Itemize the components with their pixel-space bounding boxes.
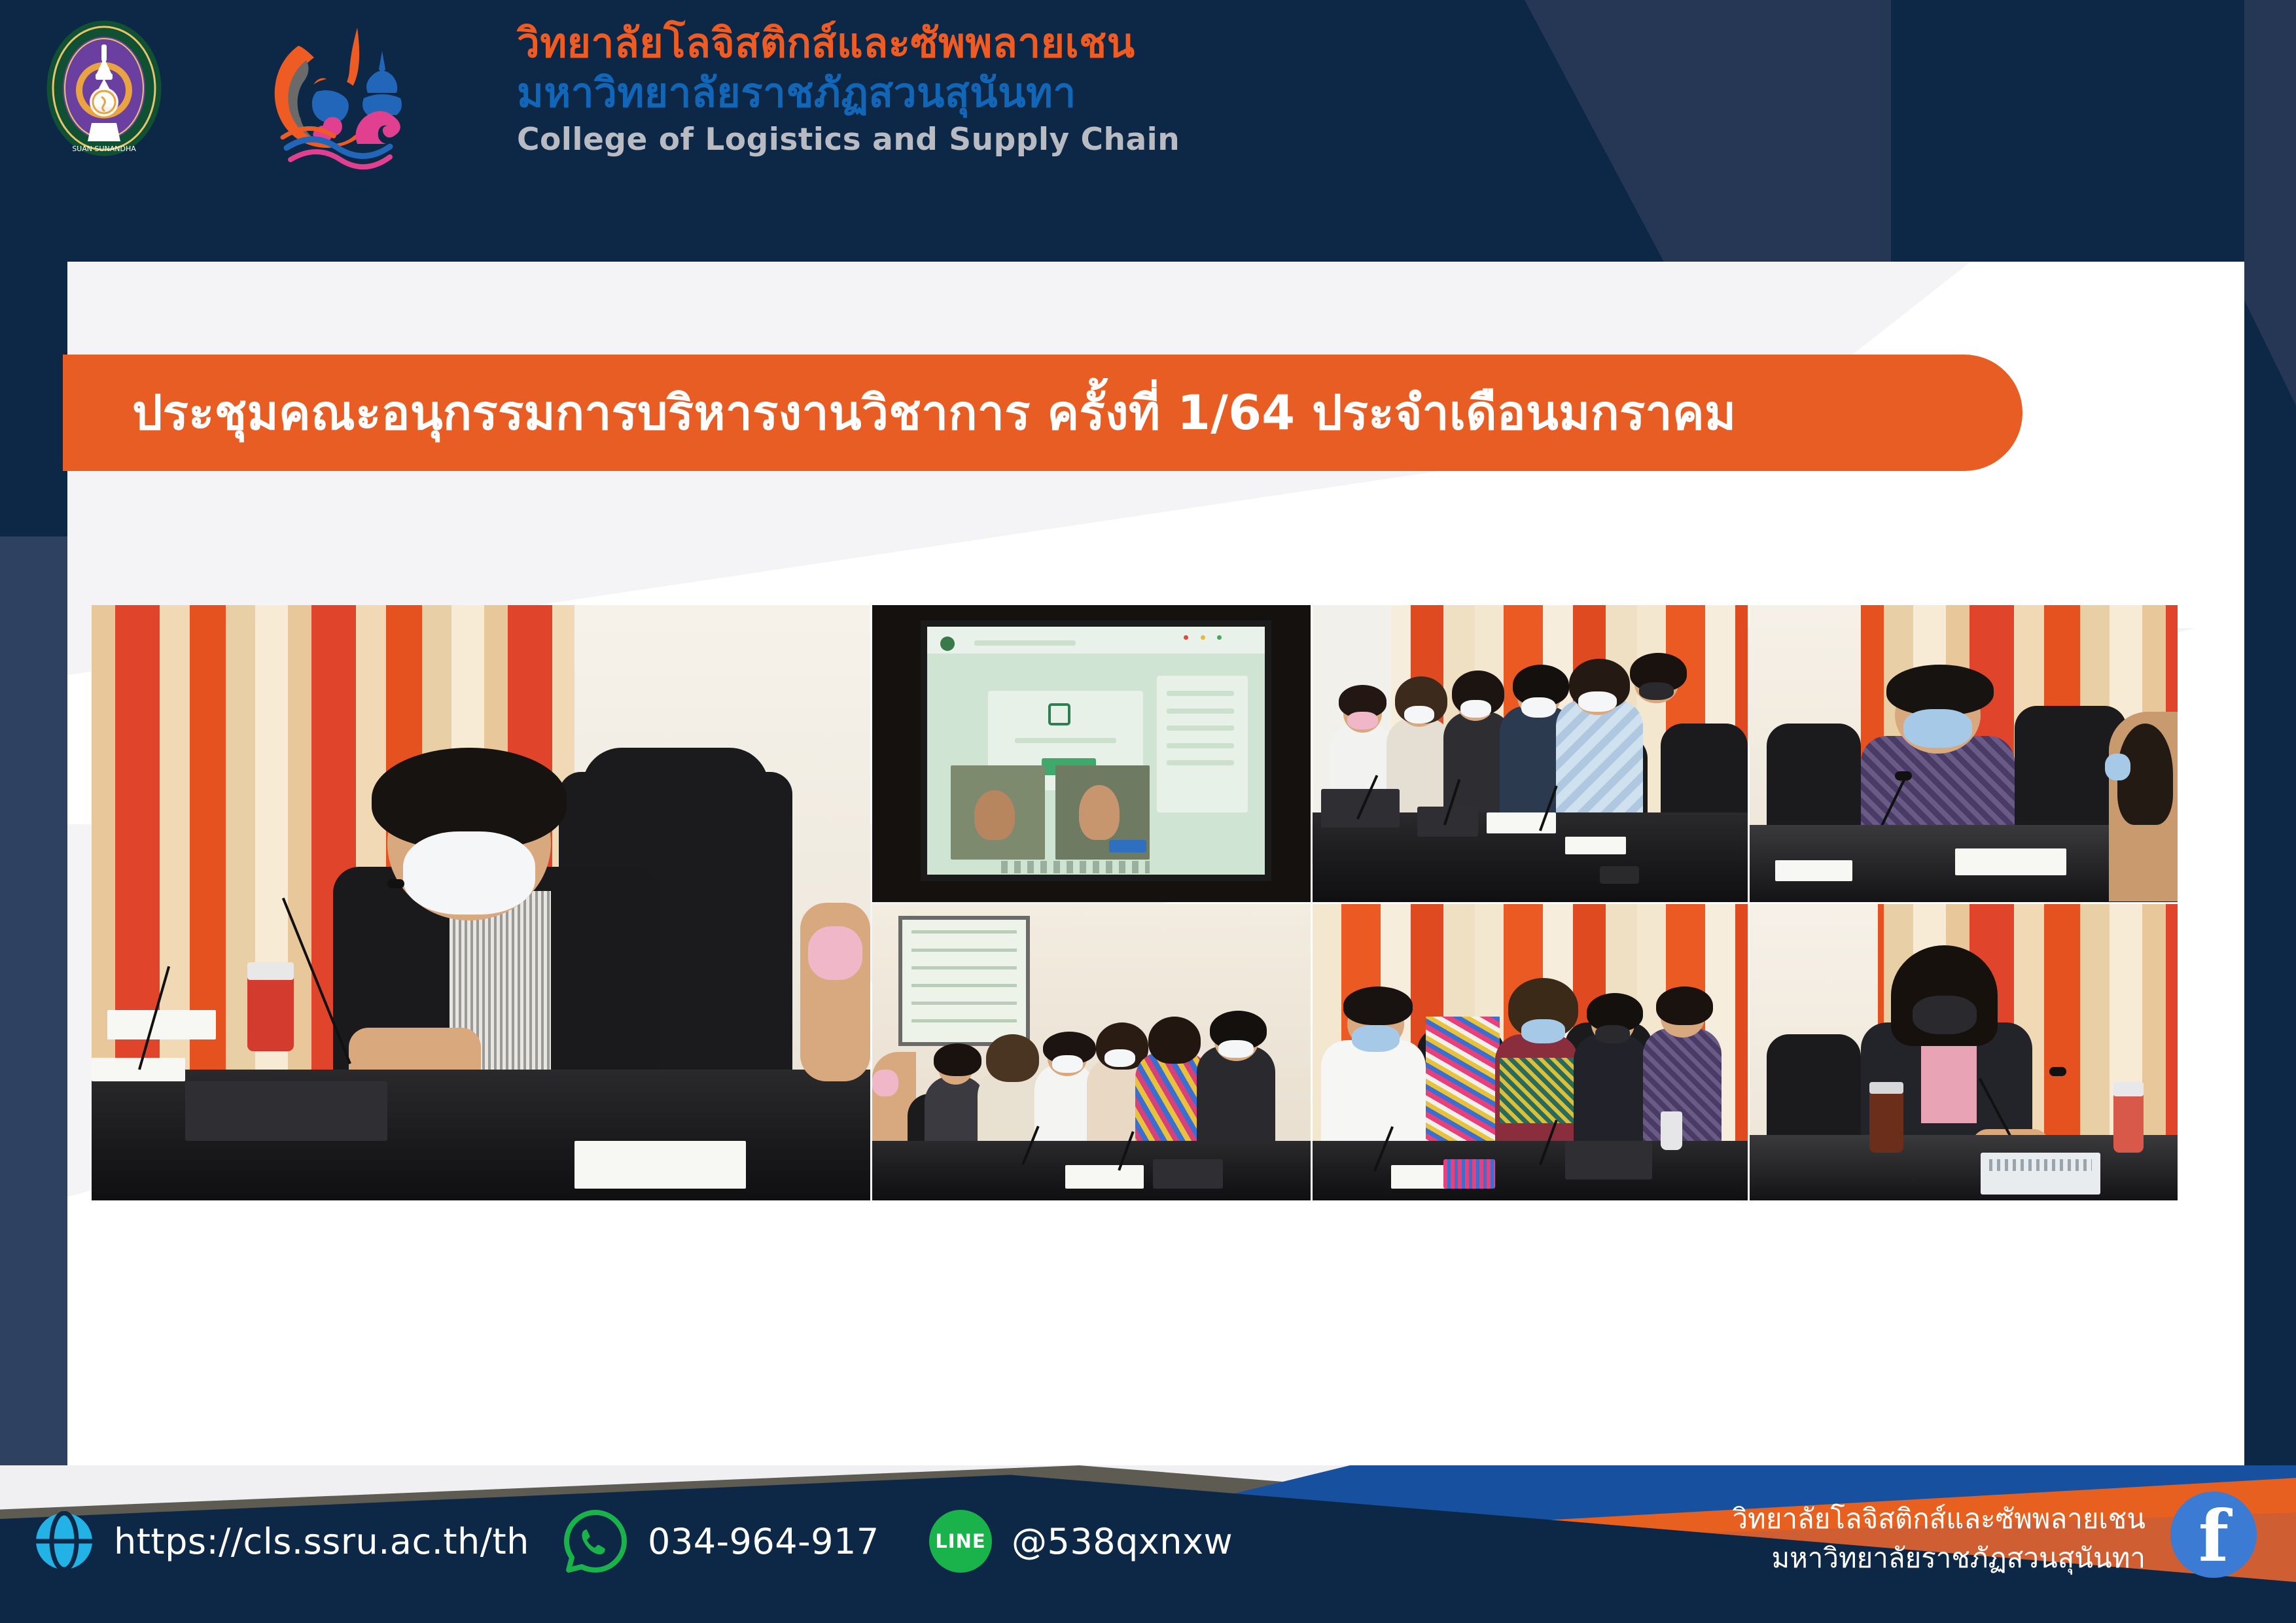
poster-root: SUAN SUNANDHA: [0, 0, 2296, 1623]
collage-row-bottom: [872, 904, 2178, 1201]
collage-row-top: [872, 605, 2178, 902]
header-title-th-university: มหาวิทยาลัยราชภัฏสวนสุนันทา: [517, 68, 1498, 118]
facebook-glyph: f: [2199, 1505, 2229, 1569]
header-title-th-college: วิทยาลัยโลจิสติกส์และซัพพลายเชน: [517, 18, 1498, 68]
svg-text:SUAN SUNANDHA: SUAN SUNANDHA: [72, 145, 136, 153]
footer-line-item[interactable]: LINE @538qxnxw: [929, 1510, 1233, 1573]
left-navy-strip-dark: [0, 262, 67, 536]
announcement-title: ประชุมคณะอนุกรรมการบริหารงานวิชาการ ครั้…: [63, 375, 1736, 451]
photo-collage: [92, 605, 2178, 1200]
footer-line-id-text[interactable]: @538qxnxw: [1012, 1521, 1233, 1562]
footer-org-university: มหาวิทยาลัยราชภัฏสวนสุนันทา: [1733, 1539, 2146, 1578]
footer-phone-text[interactable]: 034-964-917: [648, 1521, 879, 1562]
photo-man-purple-batik-shirt: [1750, 605, 2178, 902]
cls-flame-globe-logo-icon: [259, 20, 410, 170]
globe-icon: [34, 1511, 94, 1571]
photo-projector-zoom-meeting: [872, 605, 1311, 902]
photo-room-wide-with-screen: [872, 904, 1311, 1201]
line-label: LINE: [935, 1530, 985, 1552]
footer-phone-item[interactable]: 034-964-917: [563, 1509, 879, 1574]
collage-right-grid: [872, 605, 2178, 1200]
announcement-banner: ประชุมคณะอนุกรรมการบริหารงานวิชาการ ครั้…: [63, 355, 2022, 471]
photo-attendees-row-one: [1313, 605, 1748, 902]
header-titles: วิทยาลัยโลจิสติกส์และซัพพลายเชน มหาวิทยา…: [517, 18, 1498, 160]
university-seal-icon: SUAN SUNANDHA: [34, 18, 174, 158]
photo-woman-black-mask-laptop: [1750, 904, 2178, 1201]
photo-chairman-speaking: [92, 605, 870, 1200]
footer-org-college: วิทยาลัยโลจิสติกส์และซัพพลายเชน: [1733, 1499, 2146, 1539]
footer-website-item[interactable]: https://cls.ssru.ac.th/th: [34, 1511, 529, 1571]
whatsapp-icon: [563, 1509, 628, 1574]
footer-org-names: วิทยาลัยโลจิสติกส์และซัพพลายเชน มหาวิทยา…: [1733, 1499, 2146, 1577]
facebook-icon[interactable]: f: [2170, 1492, 2257, 1578]
line-icon: LINE: [929, 1510, 992, 1573]
header-title-en: College of Logistics and Supply Chain: [517, 120, 1498, 160]
photo-attendees-row-two: [1313, 904, 1748, 1201]
footer-website-text[interactable]: https://cls.ssru.ac.th/th: [114, 1521, 529, 1562]
